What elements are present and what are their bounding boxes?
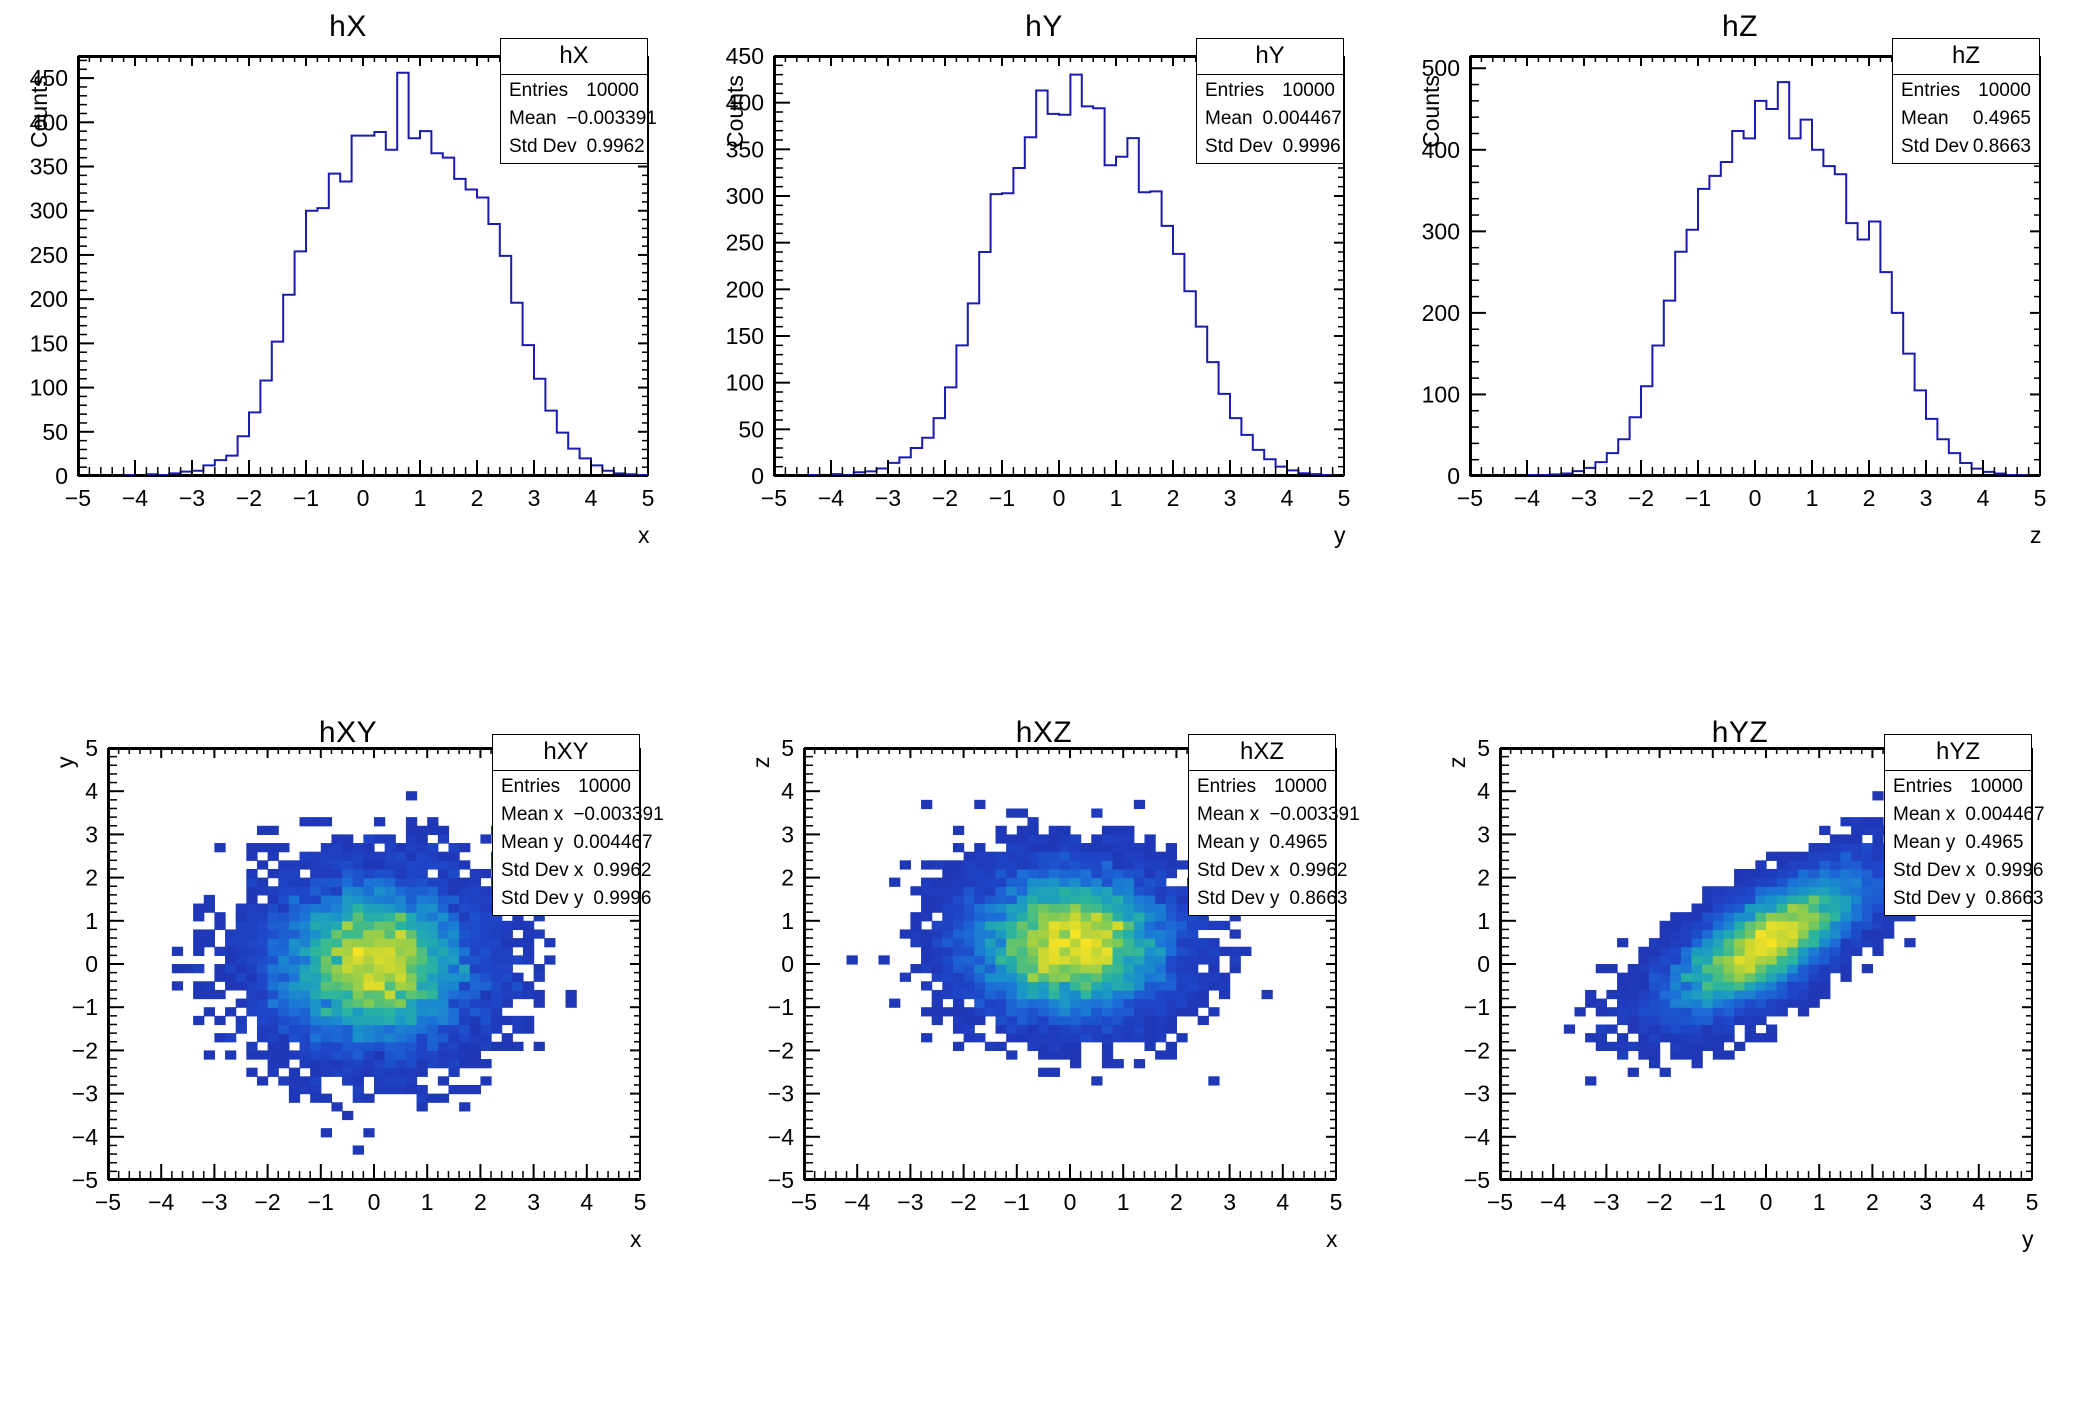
y-tick-label: 2 — [781, 865, 794, 891]
x-tick-label: −1 — [1700, 1189, 1726, 1215]
x-axis-title-hy: y — [1334, 522, 1346, 549]
x-tick-label: −1 — [989, 485, 1015, 511]
stats-row-key: Entries — [1197, 776, 1256, 798]
stats-row-key: Entries — [1901, 80, 1960, 102]
y-tick-label: 100 — [726, 370, 764, 396]
x-tick-label: 3 — [527, 1189, 540, 1215]
y-axis-title-hyz: z — [1444, 757, 1471, 769]
y-tick-label: −1 — [72, 994, 98, 1020]
x-tick-label: 1 — [1813, 1189, 1826, 1215]
x-tick-label: −4 — [1514, 485, 1540, 511]
x-tick-label: −5 — [791, 1189, 817, 1215]
stats-row-value: 0.8663 — [1975, 888, 2043, 910]
stats-row: Std Dev y0.8663 — [1189, 885, 1335, 913]
x-tick-label: −2 — [950, 1189, 976, 1215]
y-tick-label: 0 — [751, 463, 764, 489]
x-tick-label: 4 — [585, 485, 598, 511]
stats-row: Mean x−0.003391 — [1189, 801, 1335, 829]
y-tick-label: 450 — [726, 43, 764, 69]
y-tick-label: −1 — [1464, 994, 1490, 1020]
x-tick-label: 4 — [1281, 485, 1294, 511]
x-tick-label: −1 — [308, 1189, 334, 1215]
stats-rows: Entries10000Mean0.004467Std Dev0.9996 — [1197, 75, 1343, 163]
stats-row-value: 10000 — [1272, 80, 1335, 102]
y-tick-label: 1 — [85, 908, 98, 934]
y-axis-title-hxz: z — [748, 757, 775, 769]
stats-row-value: 10000 — [1264, 776, 1327, 798]
stats-rows: Entries10000Mean0.4965Std Dev0.8663 — [1893, 75, 2039, 163]
x-tick-label: 0 — [1053, 485, 1066, 511]
stats-row-key: Mean — [1901, 108, 1949, 130]
x-tick-label: 3 — [1920, 485, 1933, 511]
x-tick-label: 1 — [1806, 485, 1819, 511]
stats-row-value: 10000 — [576, 80, 639, 102]
stats-row-key: Std Dev x — [1893, 860, 1975, 882]
x-tick-label: −3 — [897, 1189, 923, 1215]
y-tick-label: 1 — [781, 908, 794, 934]
stats-row: Entries10000 — [1885, 773, 2031, 801]
stats-row: Mean y0.4965 — [1885, 829, 2031, 857]
x-tick-label: 1 — [1117, 1189, 1130, 1215]
x-tick-label: 4 — [1977, 485, 1990, 511]
y-tick-label: 150 — [726, 323, 764, 349]
y-tick-label: 4 — [781, 778, 794, 804]
stats-box-hy[interactable]: hYEntries10000Mean0.004467Std Dev0.9996 — [1196, 38, 1344, 164]
x-tick-label: −5 — [95, 1189, 121, 1215]
y-tick-label: 5 — [85, 735, 98, 761]
stats-row-value: 0.9962 — [1279, 860, 1347, 882]
stats-title: hX — [501, 39, 647, 75]
x-tick-label: 5 — [1338, 485, 1351, 511]
stats-row-value: 10000 — [1960, 776, 2023, 798]
stats-row-key: Mean x — [501, 804, 563, 826]
panel-hx: hX−5−4−3−2−10123450501001502002503003504… — [0, 0, 696, 708]
stats-row: Entries10000 — [501, 77, 647, 105]
x-tick-label: −2 — [254, 1189, 280, 1215]
stats-row-key: Mean y — [501, 832, 563, 854]
y-tick-label: 5 — [1477, 735, 1490, 761]
y-tick-label: −4 — [1464, 1124, 1490, 1150]
stats-row-value: −0.003391 — [1259, 804, 1359, 826]
stats-row: Mean y0.004467 — [493, 829, 639, 857]
x-tick-label: 2 — [1170, 1189, 1183, 1215]
stats-row-value: 0.004467 — [563, 832, 652, 854]
x-tick-label: −5 — [761, 485, 787, 511]
stats-row-key: Std Dev x — [501, 860, 583, 882]
stats-row: Mean y0.4965 — [1189, 829, 1335, 857]
y-tick-label: −3 — [1464, 1081, 1490, 1107]
stats-row-value: −0.003391 — [557, 108, 657, 130]
x-tick-label: 0 — [1760, 1189, 1773, 1215]
stats-row: Mean0.4965 — [1893, 105, 2039, 133]
y-tick-label: 4 — [85, 778, 98, 804]
y-axis-title-hx: Counts — [26, 75, 53, 148]
stats-row: Entries10000 — [1189, 773, 1335, 801]
x-tick-label: −1 — [1685, 485, 1711, 511]
x-tick-label: 2 — [1863, 485, 1876, 511]
stats-row-key: Mean x — [1197, 804, 1259, 826]
x-axis-title-hx: x — [638, 522, 650, 549]
stats-row-value: 0.9962 — [583, 860, 651, 882]
stats-row: Std Dev y0.8663 — [1885, 885, 2031, 913]
y-tick-label: 0 — [781, 951, 794, 977]
stats-row: Std Dev0.9996 — [1197, 133, 1343, 161]
y-tick-label: 0 — [1447, 463, 1460, 489]
stats-row: Std Dev0.8663 — [1893, 133, 2039, 161]
x-tick-label: 4 — [1276, 1189, 1289, 1215]
stats-row-key: Std Dev — [1205, 136, 1273, 158]
y-tick-label: 5 — [781, 735, 794, 761]
x-tick-label: 4 — [1972, 1189, 1985, 1215]
x-tick-label: −3 — [1571, 485, 1597, 511]
x-tick-label: −2 — [1646, 1189, 1672, 1215]
x-tick-label: 3 — [1919, 1189, 1932, 1215]
panel-hyz: hYZ−5−4−3−2−1012345−5−4−3−2−1012345yzhYZ… — [1392, 708, 2088, 1416]
y-tick-label: 4 — [1477, 778, 1490, 804]
x-tick-label: −2 — [1628, 485, 1654, 511]
stats-box-hz[interactable]: hZEntries10000Mean0.4965Std Dev0.8663 — [1892, 38, 2040, 164]
x-tick-label: 0 — [1064, 1189, 1077, 1215]
y-tick-label: 3 — [1477, 821, 1490, 847]
stats-rows: Entries10000Mean x0.004467Mean y0.4965St… — [1885, 771, 2031, 914]
stats-row-key: Std Dev — [1901, 136, 1969, 158]
x-tick-label: 5 — [2034, 485, 2047, 511]
stats-row-key: Mean y — [1893, 832, 1955, 854]
x-axis-title-hyz: y — [2022, 1226, 2034, 1253]
root-canvas: hX−5−4−3−2−10123450501001502002503003504… — [0, 0, 2088, 1416]
y-tick-label: −3 — [768, 1081, 794, 1107]
x-tick-label: −4 — [148, 1189, 174, 1215]
stats-row: Std Dev0.9962 — [501, 133, 647, 161]
stats-row-value: 0.8663 — [1971, 136, 2031, 158]
stats-row-key: Mean x — [1893, 804, 1955, 826]
x-tick-label: 2 — [474, 1189, 487, 1215]
y-tick-label: 0 — [85, 951, 98, 977]
x-tick-label: −5 — [1487, 1189, 1513, 1215]
x-tick-label: −2 — [236, 485, 262, 511]
stats-row-key: Entries — [501, 776, 560, 798]
y-tick-label: 2 — [1477, 865, 1490, 891]
y-tick-label: 100 — [1422, 381, 1460, 407]
stats-row: Std Dev x0.9996 — [1885, 857, 2031, 885]
y-tick-label: 350 — [30, 154, 68, 180]
stats-row-value: 0.4965 — [1963, 108, 2031, 130]
stats-row-value: 0.9996 — [1975, 860, 2043, 882]
x-tick-label: −4 — [122, 485, 148, 511]
stats-row-key: Entries — [1205, 80, 1264, 102]
stats-row-key: Std Dev y — [501, 888, 583, 910]
y-tick-label: 3 — [781, 821, 794, 847]
x-tick-label: 4 — [580, 1189, 593, 1215]
stats-row-key: Mean — [1205, 108, 1253, 130]
y-tick-label: 300 — [30, 198, 68, 224]
stats-rows: Entries10000Mean x−0.003391Mean y0.00446… — [493, 771, 639, 914]
x-tick-label: 1 — [421, 1189, 434, 1215]
y-tick-label: 200 — [726, 276, 764, 302]
y-tick-label: 150 — [30, 330, 68, 356]
stats-row-value: 0.4965 — [1259, 832, 1327, 854]
stats-title: hYZ — [1885, 735, 2031, 771]
stats-title: hY — [1197, 39, 1343, 75]
stats-row: Entries10000 — [493, 773, 639, 801]
y-tick-label: −5 — [1464, 1167, 1490, 1193]
stats-box-hx[interactable]: hXEntries10000Mean−0.003391Std Dev0.9962 — [500, 38, 648, 164]
stats-row: Mean0.004467 — [1197, 105, 1343, 133]
stats-row-key: Std Dev — [509, 136, 577, 158]
x-tick-label: −4 — [844, 1189, 870, 1215]
stats-row: Entries10000 — [1197, 77, 1343, 105]
stats-row: Entries10000 — [1893, 77, 2039, 105]
stats-row-value: 0.9962 — [577, 136, 645, 158]
stats-row-value: 0.9996 — [583, 888, 651, 910]
stats-row: Mean x−0.003391 — [493, 801, 639, 829]
y-tick-label: 1 — [1477, 908, 1490, 934]
stats-row-value: 0.8663 — [1279, 888, 1347, 910]
y-tick-label: −1 — [768, 994, 794, 1020]
stats-rows: Entries10000Mean x−0.003391Mean y0.4965S… — [1189, 771, 1335, 914]
y-tick-label: 200 — [30, 286, 68, 312]
stats-row-value: 0.9996 — [1273, 136, 1341, 158]
stats-box-hyz[interactable]: hYZEntries10000Mean x0.004467Mean y0.496… — [1884, 734, 2032, 916]
stats-row-value: 0.004467 — [1253, 108, 1342, 130]
y-tick-label: −2 — [72, 1037, 98, 1063]
y-tick-label: −4 — [72, 1124, 98, 1150]
x-tick-label: −3 — [201, 1189, 227, 1215]
x-tick-label: −1 — [1004, 1189, 1030, 1215]
x-tick-label: 0 — [1749, 485, 1762, 511]
stats-row-key: Std Dev y — [1197, 888, 1279, 910]
x-tick-label: 5 — [642, 485, 655, 511]
x-tick-label: 1 — [414, 485, 427, 511]
y-tick-label: 2 — [85, 865, 98, 891]
x-tick-label: −3 — [875, 485, 901, 511]
stats-row-key: Std Dev x — [1197, 860, 1279, 882]
stats-row-value: −0.003391 — [563, 804, 663, 826]
x-tick-label: 0 — [368, 1189, 381, 1215]
y-axis-title-hxy: y — [52, 757, 79, 769]
y-tick-label: 250 — [30, 242, 68, 268]
y-tick-label: −2 — [768, 1037, 794, 1063]
stats-title: hZ — [1893, 39, 2039, 75]
y-tick-label: 50 — [42, 419, 68, 445]
x-tick-label: 0 — [357, 485, 370, 511]
stats-row-value: 0.4965 — [1955, 832, 2023, 854]
stats-title: hXY — [493, 735, 639, 771]
x-tick-label: −5 — [65, 485, 91, 511]
y-tick-label: −5 — [72, 1167, 98, 1193]
stats-row-key: Mean — [509, 108, 557, 130]
stats-row-key: Entries — [509, 80, 568, 102]
panel-hy: hY−5−4−3−2−10123450501001502002503003504… — [696, 0, 1392, 708]
x-tick-label: −1 — [293, 485, 319, 511]
y-tick-label: −5 — [768, 1167, 794, 1193]
y-tick-label: 3 — [85, 821, 98, 847]
stats-box-hxz[interactable]: hXZEntries10000Mean x−0.003391Mean y0.49… — [1188, 734, 1336, 916]
y-tick-label: 300 — [726, 183, 764, 209]
y-tick-label: 250 — [726, 230, 764, 256]
stats-title: hXZ — [1189, 735, 1335, 771]
stats-row: Std Dev y0.9996 — [493, 885, 639, 913]
stats-row-value: 10000 — [568, 776, 631, 798]
y-tick-label: 0 — [55, 463, 68, 489]
x-axis-title-hxy: x — [630, 1226, 642, 1253]
stats-row-key: Entries — [1893, 776, 1952, 798]
y-axis-title-hy: Counts — [722, 75, 749, 148]
x-tick-label: 5 — [1330, 1189, 1343, 1215]
stats-row-key: Mean y — [1197, 832, 1259, 854]
x-tick-label: 2 — [471, 485, 484, 511]
y-axis-title-hz: Counts — [1418, 75, 1445, 148]
stats-row: Mean−0.003391 — [501, 105, 647, 133]
x-tick-label: −3 — [1593, 1189, 1619, 1215]
x-tick-label: 3 — [1223, 1189, 1236, 1215]
panel-hxz: hXZ−5−4−3−2−1012345−5−4−3−2−1012345xzhXZ… — [696, 708, 1392, 1416]
y-tick-label: −2 — [1464, 1037, 1490, 1063]
stats-row: Std Dev x0.9962 — [1189, 857, 1335, 885]
y-tick-label: 50 — [738, 416, 764, 442]
y-tick-label: −3 — [72, 1081, 98, 1107]
x-tick-label: −4 — [1540, 1189, 1566, 1215]
x-tick-label: −3 — [179, 485, 205, 511]
x-tick-label: 1 — [1110, 485, 1123, 511]
x-tick-label: 3 — [528, 485, 541, 511]
x-tick-label: −4 — [818, 485, 844, 511]
stats-row-value: 10000 — [1968, 80, 2031, 102]
panel-hxy: hXY−5−4−3−2−1012345−5−4−3−2−1012345xyhXY… — [0, 708, 696, 1416]
panel-hz: hZ−5−4−3−2−10123450100200300400500zCount… — [1392, 0, 2088, 708]
x-tick-label: 3 — [1224, 485, 1237, 511]
stats-row: Mean x0.004467 — [1885, 801, 2031, 829]
stats-box-hxy[interactable]: hXYEntries10000Mean x−0.003391Mean y0.00… — [492, 734, 640, 916]
y-tick-label: 0 — [1477, 951, 1490, 977]
x-axis-title-hz: z — [2030, 522, 2042, 549]
x-tick-label: −2 — [932, 485, 958, 511]
y-tick-label: 200 — [1422, 300, 1460, 326]
stats-row-key: Std Dev y — [1893, 888, 1975, 910]
x-tick-label: 5 — [634, 1189, 647, 1215]
y-tick-label: −4 — [768, 1124, 794, 1150]
stats-row: Std Dev x0.9962 — [493, 857, 639, 885]
x-axis-title-hxz: x — [1326, 1226, 1338, 1253]
stats-rows: Entries10000Mean−0.003391Std Dev0.9962 — [501, 75, 647, 163]
x-tick-label: −5 — [1457, 485, 1483, 511]
y-tick-label: 300 — [1422, 218, 1460, 244]
x-tick-label: 5 — [2026, 1189, 2039, 1215]
x-tick-label: 2 — [1167, 485, 1180, 511]
x-tick-label: 2 — [1866, 1189, 1879, 1215]
stats-row-value: 0.004467 — [1955, 804, 2044, 826]
y-tick-label: 100 — [30, 375, 68, 401]
